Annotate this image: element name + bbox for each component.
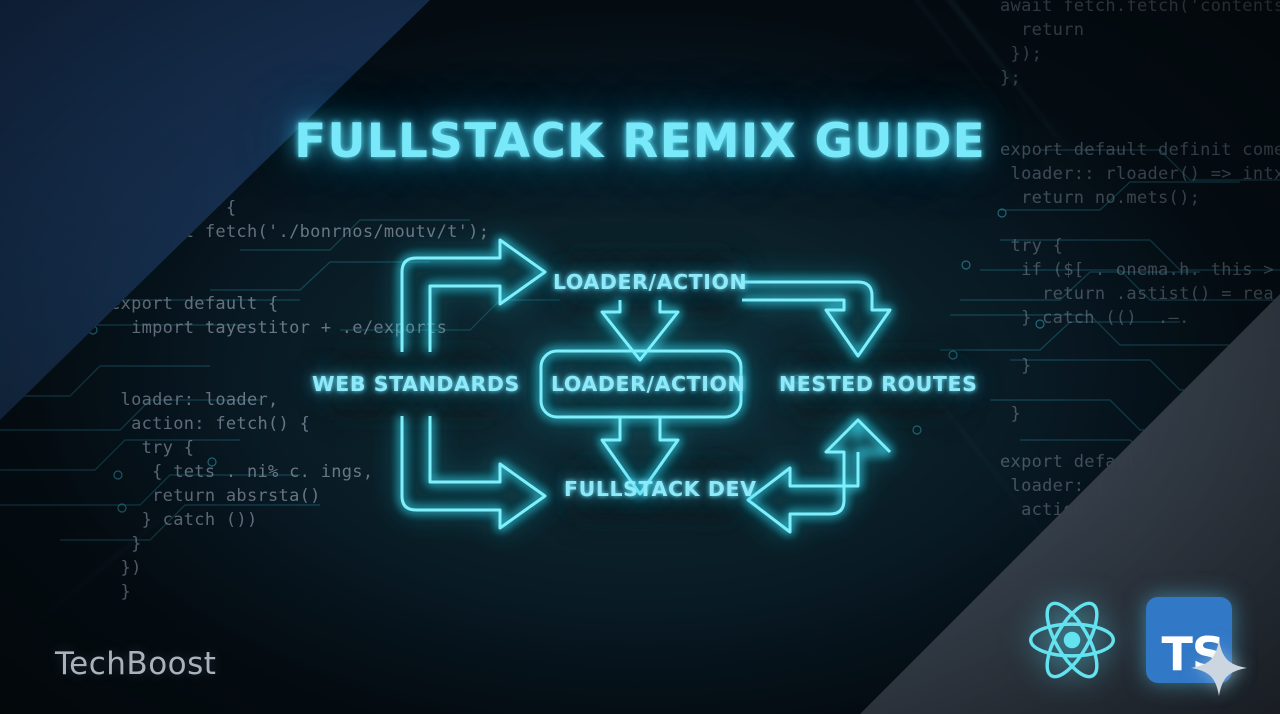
node-label-loader-action-top: LOADER/ACTION bbox=[553, 270, 747, 294]
react-logo-icon bbox=[1024, 592, 1120, 688]
node-label-fullstack-dev: FULLSTACK DEV bbox=[564, 477, 757, 501]
node-label-nested-routes: NESTED ROUTES bbox=[779, 372, 977, 396]
typescript-logo-wrap: TS bbox=[1146, 597, 1232, 683]
node-label-loader-action-center: LOADER/ACTION bbox=[551, 372, 745, 396]
brand-wordmark: TechBoost bbox=[55, 646, 216, 682]
node-label-web-standards: WEB STANDARDS bbox=[312, 372, 520, 396]
poster-canvas: (, roo) => { = await fetch('./bonrnos/mo… bbox=[0, 0, 1280, 714]
logo-row: TS bbox=[1024, 592, 1232, 688]
sparkle-icon bbox=[1190, 639, 1248, 697]
